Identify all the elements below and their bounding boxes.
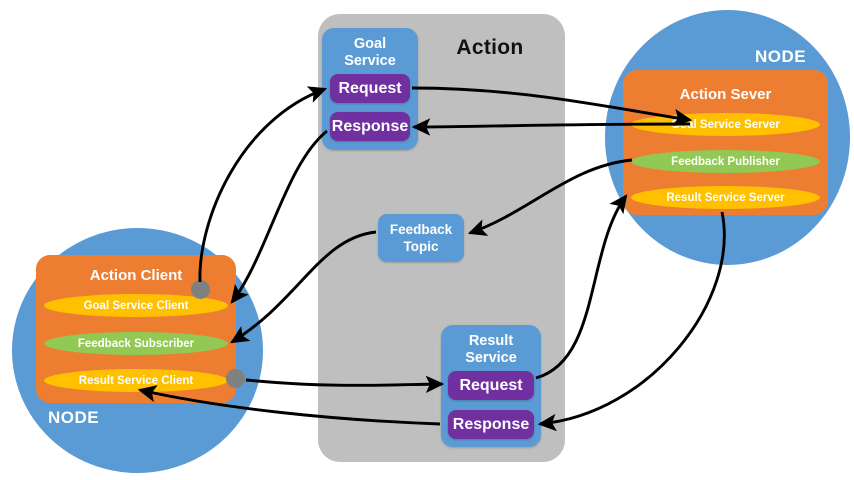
action-server-title: Action Sever <box>623 86 828 103</box>
goal-service-title-line1: Goal <box>322 36 418 53</box>
feedback-topic-line1: Feedback <box>390 221 452 238</box>
connector-dot-result-client <box>226 369 245 388</box>
endpoint-label: Feedback Subscriber <box>78 338 194 350</box>
endpoint-label: Goal Service Server <box>671 119 780 131</box>
feedback-topic-line2: Topic <box>390 238 452 255</box>
arrow-goal-client-to-request <box>200 89 325 282</box>
result-service-response[interactable]: Response <box>448 410 534 439</box>
result-service-title: Result Service <box>441 333 541 367</box>
goal-service-title: Goal Service <box>322 36 418 70</box>
endpoint-label: Feedback Publisher <box>671 156 780 168</box>
feedback-topic-box[interactable]: Feedback Topic <box>378 214 464 262</box>
diagram-canvas: Action Action Sever Goal Service Server … <box>0 0 854 480</box>
goal-service-response[interactable]: Response <box>330 112 410 141</box>
client-node-label: NODE <box>48 408 99 428</box>
connector-dot-goal-client <box>191 280 210 299</box>
endpoint-feedback-subscriber[interactable]: Feedback Subscriber <box>44 332 228 355</box>
endpoint-label: Result Service Server <box>666 192 784 204</box>
result-service-request[interactable]: Request <box>448 371 534 400</box>
arrow-response-to-goal-client <box>232 131 327 302</box>
goal-service-request[interactable]: Request <box>330 74 410 103</box>
endpoint-result-service-client[interactable]: Result Service Client <box>44 369 228 392</box>
action-title: Action <box>430 36 550 60</box>
server-node-label: NODE <box>755 47 806 67</box>
endpoint-result-service-server[interactable]: Result Service Server <box>631 186 820 209</box>
result-service-title-line1: Result <box>441 333 541 350</box>
endpoint-label: Result Service Client <box>79 375 193 387</box>
result-service-title-line2: Service <box>441 350 541 367</box>
endpoint-feedback-publisher[interactable]: Feedback Publisher <box>631 150 820 173</box>
goal-service-title-line2: Service <box>322 53 418 70</box>
endpoint-label: Goal Service Client <box>84 300 189 312</box>
endpoint-goal-service-server[interactable]: Goal Service Server <box>631 113 820 136</box>
